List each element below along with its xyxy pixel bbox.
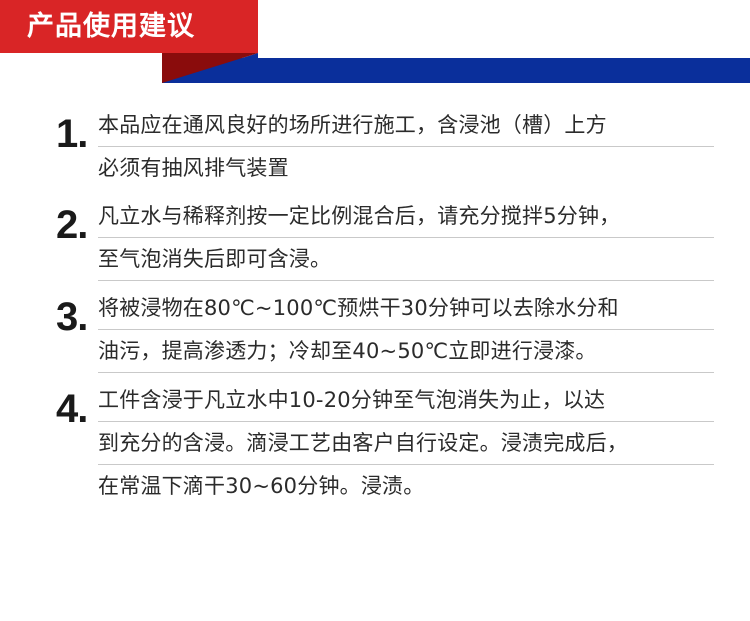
page-title: 产品使用建议 bbox=[27, 13, 195, 40]
advice-list: 1.本品应在通风良好的场所进行施工，含浸池（槽）上方必须有抽风排气装置2.凡立水… bbox=[0, 104, 750, 507]
list-item-number: 2. bbox=[56, 195, 98, 245]
list-item: 2.凡立水与稀释剂按一定比例混合后，请充分搅拌5分钟，至气泡消失后即可含浸。 bbox=[0, 195, 750, 281]
list-item-number: 4. bbox=[56, 379, 98, 429]
list-item-number: 1. bbox=[56, 104, 98, 154]
list-item-line: 工件含浸于凡立水中10-20分钟至气泡消失为止，以达 bbox=[98, 379, 714, 422]
list-item: 3.将被浸物在80℃~100℃预烘干30分钟可以去除水分和油污，提高渗透力；冷却… bbox=[0, 287, 750, 373]
list-item-body: 凡立水与稀释剂按一定比例混合后，请充分搅拌5分钟，至气泡消失后即可含浸。 bbox=[98, 195, 750, 281]
page-header: 产品使用建议 bbox=[0, 0, 750, 100]
list-item-line: 必须有抽风排气装置 bbox=[98, 147, 714, 189]
list-item-body: 工件含浸于凡立水中10-20分钟至气泡消失为止，以达到充分的含浸。滴浸工艺由客户… bbox=[98, 379, 750, 507]
list-item-body: 将被浸物在80℃~100℃预烘干30分钟可以去除水分和油污，提高渗透力；冷却至4… bbox=[98, 287, 750, 373]
list-item-body: 本品应在通风良好的场所进行施工，含浸池（槽）上方必须有抽风排气装置 bbox=[98, 104, 750, 189]
list-item-line: 油污，提高渗透力；冷却至40~50℃立即进行浸漆。 bbox=[98, 330, 714, 373]
list-item-number: 3. bbox=[56, 287, 98, 337]
list-item-line: 至气泡消失后即可含浸。 bbox=[98, 238, 714, 281]
list-item: 4.工件含浸于凡立水中10-20分钟至气泡消失为止，以达到充分的含浸。滴浸工艺由… bbox=[0, 379, 750, 507]
list-item-line: 将被浸物在80℃~100℃预烘干30分钟可以去除水分和 bbox=[98, 287, 714, 330]
list-item: 1.本品应在通风良好的场所进行施工，含浸池（槽）上方必须有抽风排气装置 bbox=[0, 104, 750, 189]
list-item-line: 到充分的含浸。滴浸工艺由客户自行设定。浸渍完成后， bbox=[98, 422, 714, 465]
header-red-banner: 产品使用建议 bbox=[0, 0, 258, 53]
list-item-line: 凡立水与稀释剂按一定比例混合后，请充分搅拌5分钟， bbox=[98, 195, 714, 238]
list-item-line: 在常温下滴干30~60分钟。浸渍。 bbox=[98, 465, 714, 507]
list-item-line: 本品应在通风良好的场所进行施工，含浸池（槽）上方 bbox=[98, 104, 714, 147]
